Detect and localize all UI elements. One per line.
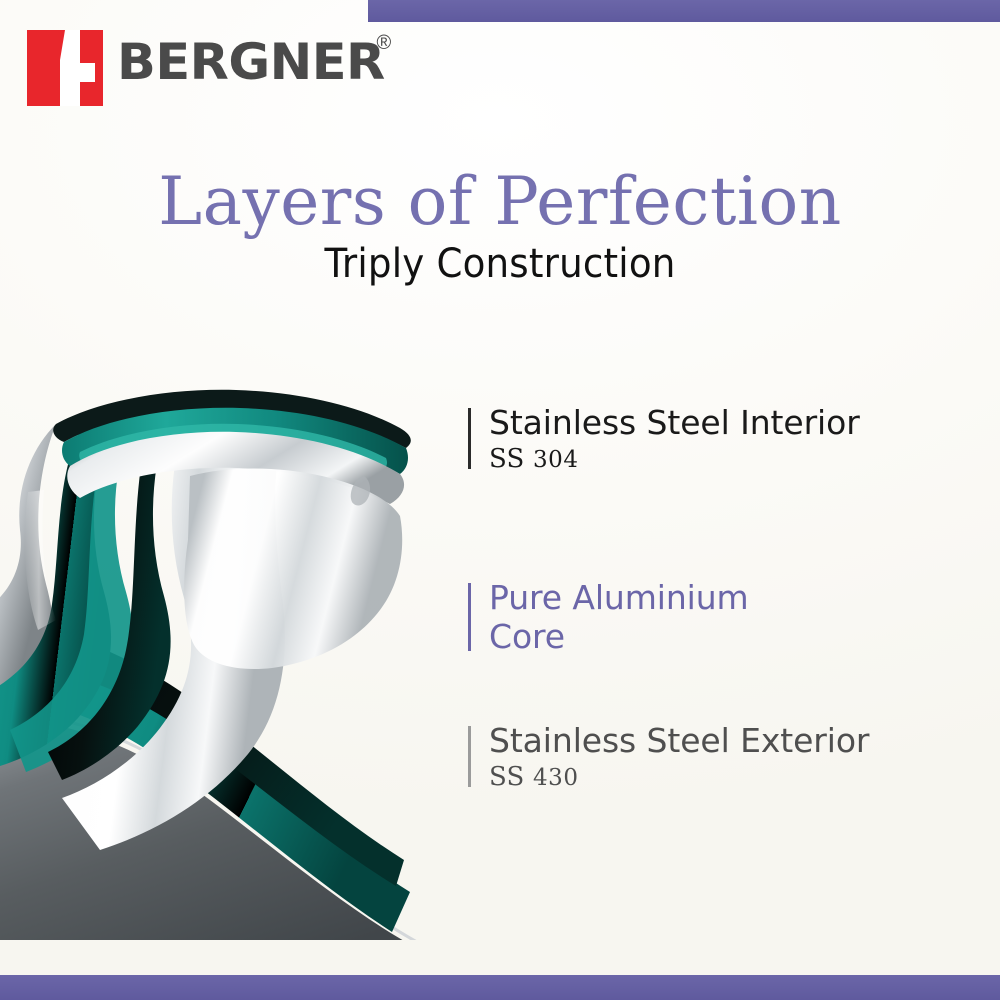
triply-cookware-cross-section — [0, 380, 480, 940]
brand-name: BERGNER — [117, 37, 385, 87]
bottom-accent-bar — [0, 975, 1000, 1000]
top-accent-bar — [368, 0, 1000, 22]
callout-title: Stainless Steel Exterior — [489, 722, 869, 761]
callout-subtitle: SS 430 — [489, 762, 869, 793]
bergner-flame-mark-icon — [27, 30, 103, 106]
callout-title-line-1: Pure Aluminium — [489, 578, 749, 617]
callout-grade-label: SS — [489, 762, 525, 792]
callout-stainless-steel-interior: Stainless Steel Interior SS 304 — [468, 404, 860, 475]
callout-stainless-steel-exterior: Stainless Steel Exterior SS 430 — [468, 722, 869, 793]
brand-logo: BERGNER ® — [27, 30, 391, 106]
heading-block: Layers of Perfection Triply Construction — [0, 168, 1000, 289]
page-title: Layers of Perfection — [0, 168, 1000, 235]
callout-rule — [468, 408, 471, 469]
callout-subtitle: SS 304 — [489, 444, 860, 475]
callout-title: Stainless Steel Interior — [489, 404, 860, 443]
callout-title: Pure Aluminium Core — [489, 579, 749, 657]
callout-grade-value: 430 — [533, 765, 578, 791]
callout-title-line-2: Core — [489, 617, 565, 656]
callout-rule — [468, 726, 471, 787]
brand-wordmark: BERGNER ® — [117, 37, 391, 86]
callout-grade-label: SS — [489, 444, 525, 474]
callout-rule — [468, 583, 471, 651]
page-subtitle: Triply Construction — [35, 239, 965, 289]
callout-pure-aluminium-core: Pure Aluminium Core — [468, 579, 749, 657]
callout-grade-value: 304 — [533, 447, 578, 473]
infographic-page: BERGNER ® Layers of Perfection Triply Co… — [0, 0, 1000, 1000]
